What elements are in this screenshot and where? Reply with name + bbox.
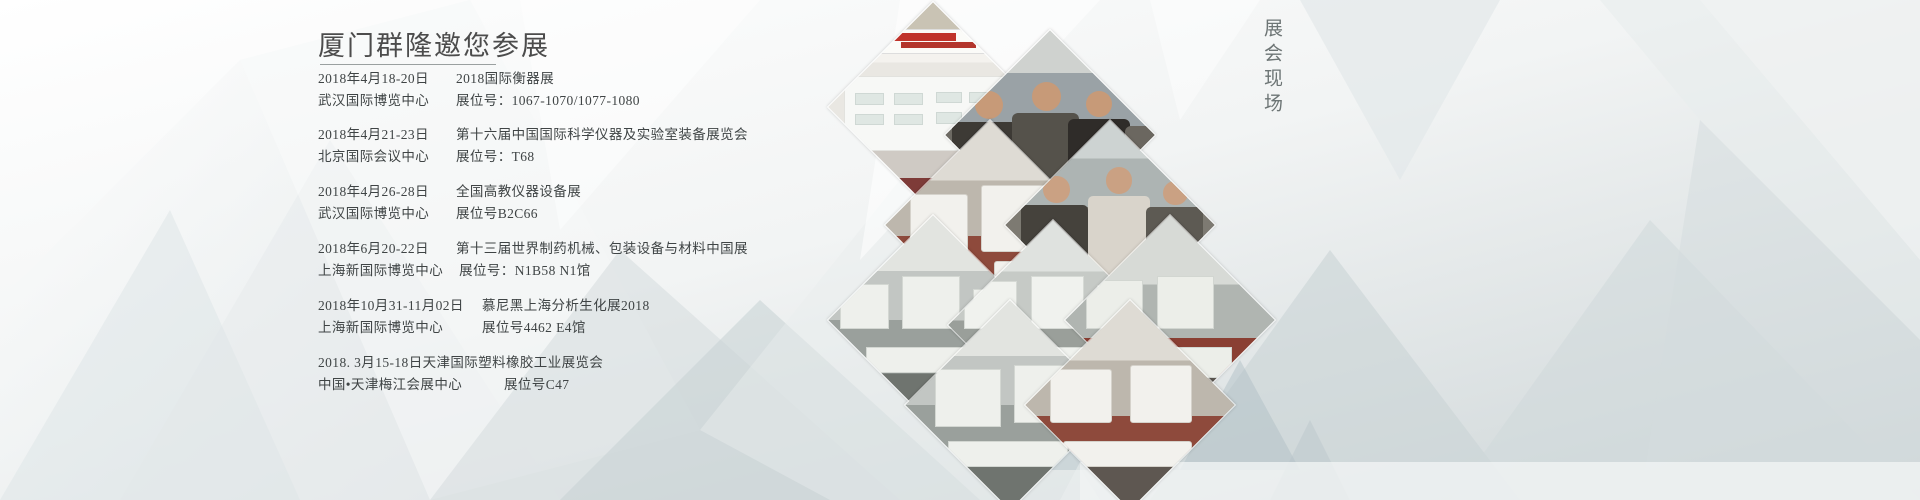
event-item-3[interactable]: 2018年4月26-28日 全国高教仪器设备展 武汉国际博览中心 展位号B2C6… [318, 181, 581, 225]
event-venue: 武汉国际博览中心 [318, 203, 440, 225]
event-venue: 上海新国际博览中心 [318, 260, 443, 282]
event-booth: 展位号B2C66 [440, 203, 538, 225]
page-title: 厦门群隆邀您参展 [318, 24, 550, 63]
event-row-venue: 北京国际会议中心 展位号：T68 [318, 146, 748, 168]
event-name: 全国高教仪器设备展 [440, 181, 581, 203]
event-item-2[interactable]: 2018年4月21-23日 第十六届中国国际科学仪器及实验室装备展览会 北京国际… [318, 124, 748, 168]
event-date: 2018. 3月15-18日天津国际塑料橡胶工业展览会 [318, 352, 603, 374]
event-date: 2018年10月31-11月02日 [318, 295, 466, 317]
event-row-date: 2018年6月20-22日 第十三届世界制药机械、包装设备与材料中国展 [318, 238, 748, 260]
event-booth: 展位号：N1B58 N1馆 [443, 260, 591, 282]
event-row-date: 2018. 3月15-18日天津国际塑料橡胶工业展览会 [318, 352, 603, 374]
event-item-4[interactable]: 2018年6月20-22日 第十三届世界制药机械、包装设备与材料中国展 上海新国… [318, 238, 748, 282]
event-row-venue: 上海新国际博览中心 展位号：N1B58 N1馆 [318, 260, 748, 282]
event-venue: 北京国际会议中心 [318, 146, 440, 168]
event-booth: 展位号：T68 [440, 146, 535, 168]
event-booth: 展位号C47 [488, 374, 569, 396]
event-name: 第十三届世界制药机械、包装设备与材料中国展 [440, 238, 748, 260]
event-booth: 展位号：1067-1070/1077-1080 [440, 90, 640, 112]
event-item-1[interactable]: 2018年4月18-20日 2018国际衡器展 武汉国际博览中心 展位号：106… [318, 68, 640, 112]
event-item-5[interactable]: 2018年10月31-11月02日 慕尼黑上海分析生化展2018 上海新国际博览… [318, 295, 650, 339]
event-date: 2018年4月21-23日 [318, 124, 440, 146]
event-name: 第十六届中国国际科学仪器及实验室装备展览会 [440, 124, 748, 146]
event-name: 慕尼黑上海分析生化展2018 [466, 295, 650, 317]
vertical-label: 展会现场 [1258, 18, 1285, 118]
title-underline [320, 64, 496, 65]
event-row-venue: 武汉国际博览中心 展位号：1067-1070/1077-1080 [318, 90, 640, 112]
event-row-date: 2018年4月26-28日 全国高教仪器设备展 [318, 181, 581, 203]
event-venue: 上海新国际博览中心 [318, 317, 466, 339]
event-booth: 展位号4462 E4馆 [466, 317, 586, 339]
event-item-6[interactable]: 2018. 3月15-18日天津国际塑料橡胶工业展览会 中国•天津梅江会展中心 … [318, 352, 603, 396]
event-date: 2018年4月18-20日 [318, 68, 440, 90]
event-row-date: 2018年10月31-11月02日 慕尼黑上海分析生化展2018 [318, 295, 650, 317]
event-date: 2018年4月26-28日 [318, 181, 440, 203]
event-row-venue: 上海新国际博览中心 展位号4462 E4馆 [318, 317, 650, 339]
event-row-venue: 中国•天津梅江会展中心 展位号C47 [318, 374, 603, 396]
event-date: 2018年6月20-22日 [318, 238, 440, 260]
event-row-venue: 武汉国际博览中心 展位号B2C66 [318, 203, 581, 225]
event-venue: 中国•天津梅江会展中心 [318, 374, 488, 396]
event-row-date: 2018年4月21-23日 第十六届中国国际科学仪器及实验室装备展览会 [318, 124, 748, 146]
event-venue: 武汉国际博览中心 [318, 90, 440, 112]
event-name: 2018国际衡器展 [440, 68, 554, 90]
event-row-date: 2018年4月18-20日 2018国际衡器展 [318, 68, 640, 90]
